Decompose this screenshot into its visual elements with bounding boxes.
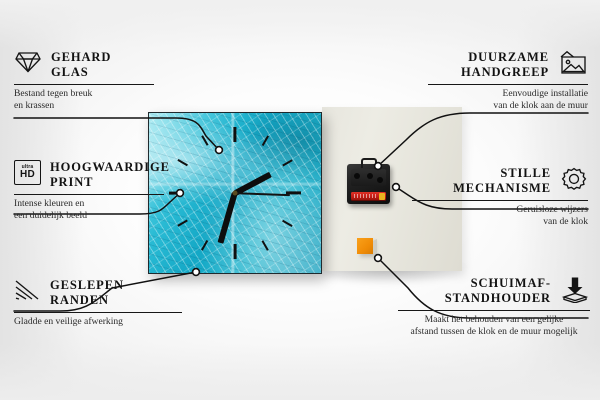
feature-geslepen-randen: GESLEPEN RANDEN Gladde en veilige afwerk… [14,278,190,328]
feature-title: GESLEPEN RANDEN [50,278,124,307]
feature-hoogwaardige-print: ultra HD HOOGWAARDIGE PRINT Intense kleu… [14,160,190,221]
feature-title: SCHUIMAF- STANDHOUDER [445,276,551,305]
bevelled-edges-icon [14,278,41,302]
feature-description: Bestand tegen breuk en krassen [14,88,190,111]
connector-duurzame-handgreep [378,113,588,166]
foam-spacer-icon [560,276,590,303]
connector-dot-gehard-glas [216,147,223,154]
feature-title: STILLE MECHANISME [453,166,551,195]
feature-divider [14,84,154,85]
feature-divider [14,312,182,313]
ultra-hd-icon-bottom: HD [20,170,35,180]
connector-dot-duurzame-handgreep [375,163,382,170]
feature-stille-mechanisme: STILLE MECHANISME Geruisloze wijzers van… [412,166,588,227]
ultra-hd-icon: ultra HD [14,160,41,185]
connector-dot-geslepen-randen [193,269,200,276]
picture-hanger-icon [558,50,588,76]
feature-title: GEHARD GLAS [51,50,111,79]
feature-schuimaf-standhouder: SCHUIMAF- STANDHOUDER Maakt het behouden… [398,276,590,337]
connector-gehard-glas [14,118,219,150]
feature-divider [14,194,164,195]
feature-description: Geruisloze wijzers van de klok [412,204,588,227]
feature-divider [428,84,588,85]
feature-divider [398,310,590,311]
feature-divider [412,200,588,201]
feature-title: HOOGWAARDIGE PRINT [50,160,170,189]
feature-description: Intense kleuren en een duidelijk beeld [14,198,190,221]
product-infographic: GEHARD GLAS Bestand tegen breuk en krass… [0,0,600,400]
gear-icon [560,166,588,194]
diamond-icon [14,50,42,74]
feature-gehard-glas: GEHARD GLAS Bestand tegen breuk en krass… [14,50,190,111]
feature-description: Gladde en veilige afwerking [14,316,190,328]
feature-duurzame-handgreep: DUURZAME HANDGREEP Eenvoudige installati… [412,50,588,111]
feature-description: Eenvoudige installatie van de klok aan d… [412,88,588,111]
connector-dot-schuimaf-standhouder [375,255,382,262]
feature-description: Maakt het behouden van een gelijke afsta… [398,314,590,337]
feature-title: DUURZAME HANDGREEP [461,50,549,79]
connector-dot-stille-mechanisme [393,184,400,191]
